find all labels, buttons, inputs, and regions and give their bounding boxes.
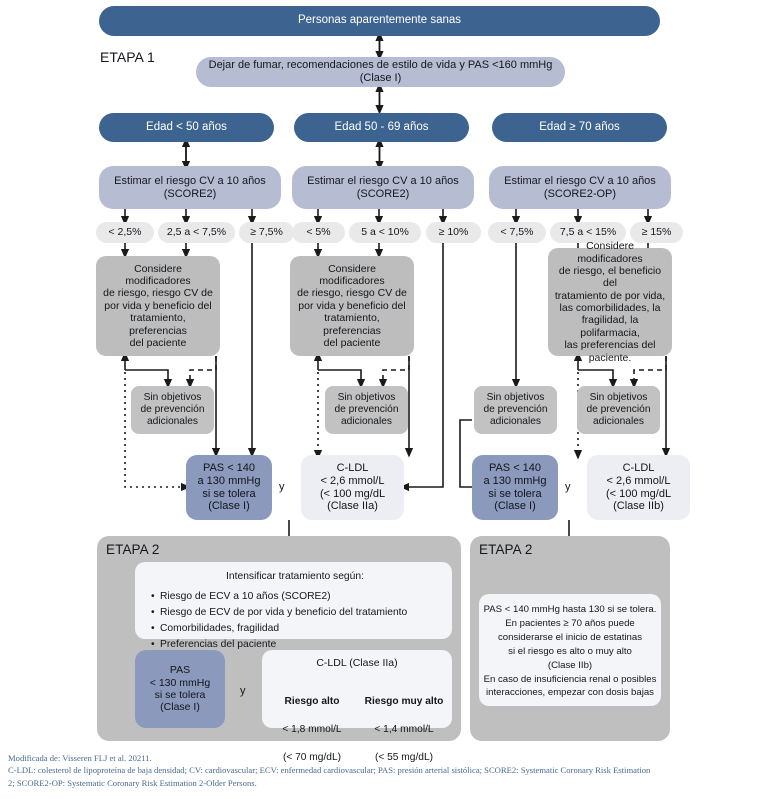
stage-2-conjunction: y: [240, 685, 246, 697]
ldl-col-high-heading: Riesgo alto: [285, 696, 340, 707]
risk-pill-c1-high: ≥ 7,5%: [239, 222, 294, 243]
risk-modifiers-col1: Considere modificadores de riesgo, riesg…: [96, 256, 220, 356]
risk-pill-c2-low: < 5%: [292, 222, 345, 243]
age-group-50-69: Edad 50 - 69 años: [294, 113, 469, 142]
stage-2-right-label: ETAPA 2: [479, 542, 532, 557]
lifestyle-node: Dejar de fumar, recomendaciones de estil…: [196, 57, 565, 87]
footer-notes: Modificada de: Visseren FLJ et al. 20211…: [8, 752, 756, 789]
list-item: Comorbilidades, fragilidad: [160, 621, 441, 637]
ldl-col-veryhigh-line1: < 1,4 mmol/L: [374, 724, 433, 735]
risk-pill-c1-mid: 2,5 a < 7,5%: [158, 222, 235, 243]
stage-2-ldl-card: C-LDL (Clase IIa) Riesgo alto < 1,8 mmol…: [262, 650, 452, 728]
target-ldl-col2: C-LDL < 2,6 mmol/L (< 100 mg/dL (Clase I…: [301, 455, 404, 520]
no-goals-col1: Sin objetivos de prevención adicionales: [131, 386, 214, 434]
age-group-70-plus: Edad ≥ 70 años: [492, 113, 667, 142]
stage-2-left-label: ETAPA 2: [106, 542, 159, 557]
intensify-bullet-list: Riesgo de ECV a 10 años (SCORE2) Riesgo …: [149, 589, 441, 653]
stage-2-right-text: PAS < 140 mmHg hasta 130 si se tolera. E…: [483, 603, 657, 700]
estimate-score2-col2: Estimar el riesgo CV a 10 años (SCORE2): [292, 166, 474, 209]
no-goals-col3-right: Sin objetivos de prevención adicionales: [577, 386, 660, 434]
ldl-col-veryhigh-heading: Riesgo muy alto: [365, 696, 444, 707]
list-item: Riesgo de ECV a 10 años (SCORE2): [160, 589, 441, 605]
stage-1-label: ETAPA 1: [100, 49, 155, 65]
stage-2-left-panel: ETAPA 2 Intensificar tratamiento según: …: [97, 536, 461, 741]
footer-source: Modificada de: Visseren FLJ et al. 20211…: [8, 752, 756, 764]
no-goals-col2: Sin objetivos de prevención adicionales: [325, 386, 408, 434]
conjunction-col3: y: [565, 481, 571, 493]
stage-2-right-card: PAS < 140 mmHg hasta 130 si se tolera. E…: [479, 594, 661, 706]
headline-node: Personas aparentemente sanas: [99, 6, 660, 36]
ldl-col-high-line1: < 1,8 mmol/L: [282, 724, 341, 735]
footer-abbreviations-1: C-LDL: colesterol de lipoproteína de baj…: [8, 764, 756, 776]
risk-modifiers-col3: Considere modificadores de riesgo, el be…: [548, 248, 672, 356]
footer-abbreviations-2: 2; SCORE2-OP: Systematic Coronary Risk E…: [8, 777, 756, 789]
estimate-score2op-col3: Estimar el riesgo CV a 10 años (SCORE2-O…: [489, 166, 671, 209]
target-ldl-col3: C-LDL < 2,6 mmol/L (< 100 mg/dL (Clase I…: [587, 455, 690, 520]
stage-2-pas-box: PAS < 130 mmHg si se tolera (Clase I): [135, 650, 225, 728]
age-group-under-50: Edad < 50 años: [99, 113, 274, 142]
intensify-content: Intensificar tratamiento según: Riesgo d…: [149, 569, 441, 653]
risk-pill-c3-low: < 7,5%: [488, 222, 546, 243]
list-item: Riesgo de ECV de por vida y beneficio de…: [160, 605, 441, 621]
stage-2-right-panel: ETAPA 2 PAS < 140 mmHg hasta 130 si se t…: [470, 536, 670, 741]
risk-modifiers-col2: Considere modificadores de riesgo, riesg…: [290, 256, 414, 356]
risk-pill-c1-low: < 2,5%: [96, 222, 154, 243]
conjunction-col1: y: [279, 481, 285, 493]
risk-pill-c2-mid: 5 a < 10%: [349, 222, 421, 243]
risk-pill-c2-high: ≥ 10%: [426, 222, 481, 243]
intensify-header: Intensificar tratamiento según:: [149, 569, 441, 585]
stage-2-ldl-title: C-LDL (Clase IIa): [262, 657, 452, 669]
estimate-score2-col1: Estimar el riesgo CV a 10 años (SCORE2): [99, 166, 281, 209]
target-pas-col3: PAS < 140 a 130 mmHg si se tolera (Clase…: [472, 455, 558, 520]
intensify-card: Intensificar tratamiento según: Riesgo d…: [135, 562, 452, 639]
flowchart-root: Personas aparentemente sanas ETAPA 1 Dej…: [0, 0, 759, 799]
no-goals-col3-left: Sin objetivos de prevención adicionales: [474, 386, 557, 434]
target-pas-col1: PAS < 140 a 130 mmHg si se tolera (Clase…: [186, 455, 272, 520]
